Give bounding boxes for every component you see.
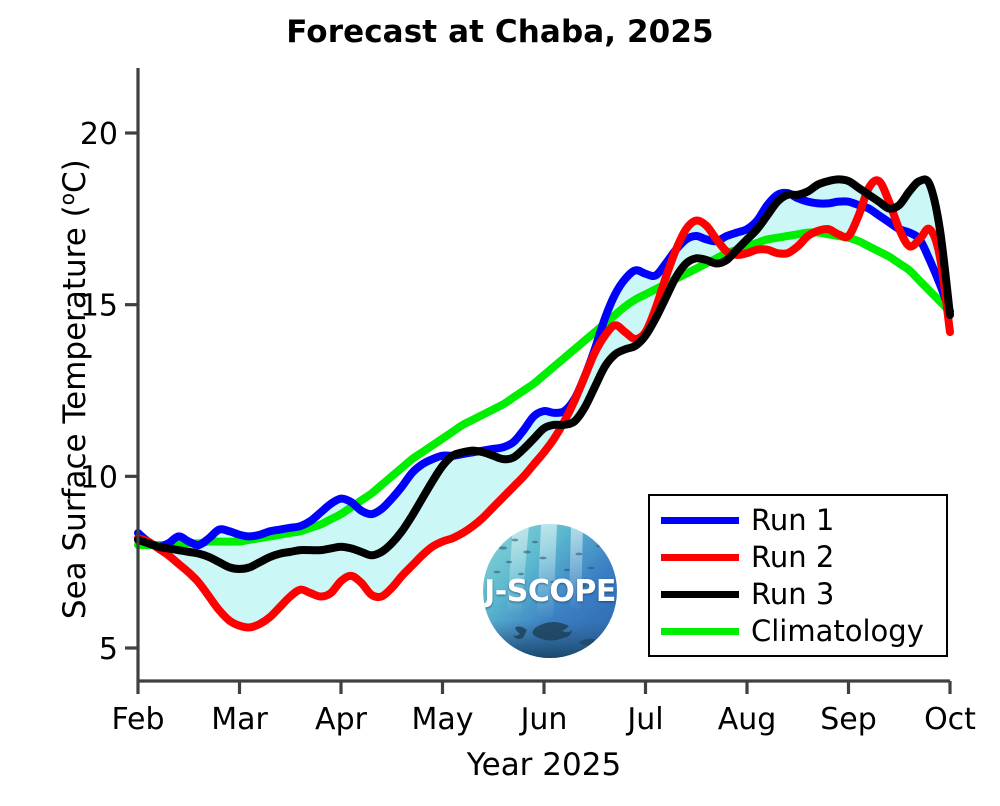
- x-tick-label-may: May: [411, 702, 473, 737]
- y-axis-unit: C): [57, 159, 93, 193]
- jscope-logo-text: J-SCOPE: [483, 574, 617, 609]
- legend-label-climatology: Climatology: [751, 617, 924, 646]
- legend-label-run-1: Run 1: [751, 506, 834, 535]
- x-tick-label-jul: Jul: [625, 702, 663, 737]
- legend-swatch-run-1: [661, 517, 739, 524]
- chart-legend[interactable]: Run 1 Run 2 Run 3 Climatology: [648, 494, 948, 657]
- x-tick-label-mar: Mar: [211, 702, 268, 737]
- y-tick-label-5: 5: [99, 632, 118, 667]
- degree-symbol: o: [55, 193, 79, 205]
- legend-label-run-2: Run 2: [751, 543, 834, 572]
- legend-label-run-3: Run 3: [751, 580, 834, 609]
- x-axis-title: Year 2025: [138, 747, 950, 783]
- legend-item-climatology[interactable]: Climatology: [650, 613, 946, 650]
- chart-plot-area: 5101520FebMarAprMayJunJulAugSepOct: [0, 0, 1000, 806]
- legend-item-run-2[interactable]: Run 2: [650, 539, 946, 576]
- legend-swatch-run-3: [661, 591, 739, 598]
- jscope-logo: J-SCOPE: [483, 524, 617, 658]
- x-tick-label-oct: Oct: [924, 702, 976, 737]
- x-tick-label-sep: Sep: [820, 702, 877, 737]
- y-axis-title-text: Sea Surface Temperature (: [57, 205, 93, 619]
- y-axis-title: Sea Surface Temperature (oC): [55, 79, 93, 699]
- chart-page: Forecast at Chaba, 2025 5101520FebMarApr…: [0, 0, 1000, 806]
- legend-swatch-run-2: [661, 554, 739, 561]
- legend-item-run-1[interactable]: Run 1: [650, 502, 946, 539]
- x-tick-label-jun: Jun: [519, 702, 568, 737]
- x-tick-label-apr: Apr: [315, 702, 368, 737]
- x-tick-label-feb: Feb: [111, 702, 164, 737]
- x-tick-label-aug: Aug: [718, 702, 777, 737]
- legend-swatch-climatology: [661, 628, 739, 635]
- legend-item-run-3[interactable]: Run 3: [650, 576, 946, 613]
